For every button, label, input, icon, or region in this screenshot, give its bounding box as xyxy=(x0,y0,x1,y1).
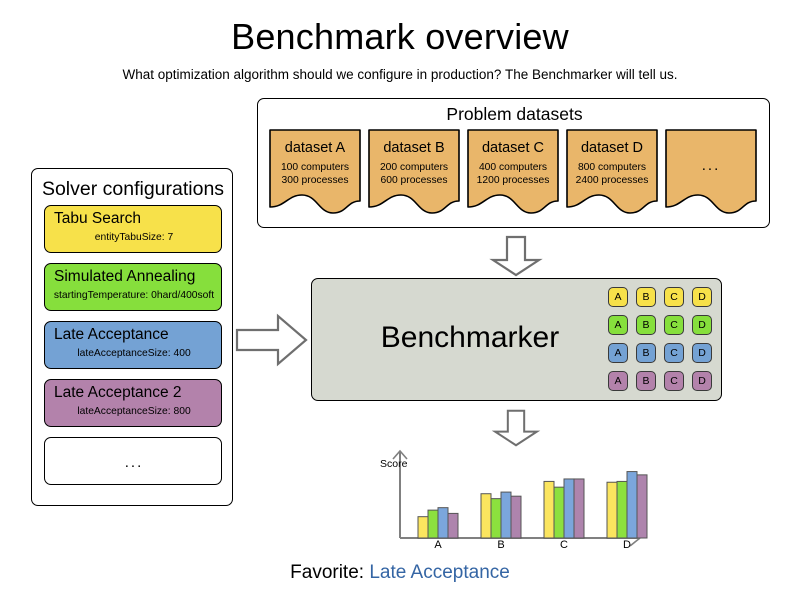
chart-bar xyxy=(564,479,574,538)
favorite-prefix: Favorite: xyxy=(290,562,369,583)
benchmark-matrix-cell[interactable]: B xyxy=(636,371,656,391)
solver-configuration-card[interactable]: Simulated AnnealingstartingTemperature: … xyxy=(44,263,222,311)
chart-y-axis-label: Score xyxy=(380,458,407,471)
chart-x-tick-label: A xyxy=(426,538,450,552)
benchmark-matrix-cell[interactable]: C xyxy=(664,315,684,335)
problem-dataset-card[interactable]: ... xyxy=(665,129,757,214)
arrow-down-icon xyxy=(486,234,546,278)
solver-configuration-param: lateAcceptanceSize: 800 xyxy=(45,405,222,419)
problem-dataset-card[interactable]: dataset B200 computers600 processes xyxy=(368,129,460,214)
dataset-processes: 1200 processes xyxy=(467,174,559,188)
chart-bar xyxy=(637,475,647,538)
dataset-name: dataset A xyxy=(269,139,361,158)
benchmark-matrix-cell[interactable]: B xyxy=(636,343,656,363)
solver-configuration-name: Tabu Search xyxy=(54,209,217,229)
diagram-canvas: Benchmark overview What optimization alg… xyxy=(0,0,800,600)
chart-bar xyxy=(544,481,554,538)
dataset-name: dataset B xyxy=(368,139,460,158)
chart-bar xyxy=(438,508,448,538)
chart-bar xyxy=(607,482,617,538)
solver-configurations-title: Solver configurations xyxy=(32,177,234,201)
dataset-name: dataset D xyxy=(566,139,658,158)
benchmark-matrix-cell[interactable]: B xyxy=(636,287,656,307)
page-subtitle: What optimization algorithm should we co… xyxy=(0,66,800,83)
arrow-down-icon xyxy=(486,408,546,448)
problem-datasets-title: Problem datasets xyxy=(258,103,771,125)
solver-configuration-param: startingTemperature: 0hard/400soft xyxy=(45,289,222,303)
benchmark-matrix: ABCDABCDABCDABCD xyxy=(608,287,714,391)
benchmark-matrix-cell[interactable]: A xyxy=(608,287,628,307)
problem-dataset-card[interactable]: dataset D800 computers2400 processes xyxy=(566,129,658,214)
chart-bar xyxy=(627,472,637,538)
chart-x-tick-label: B xyxy=(489,538,513,552)
chart-x-tick-label: C xyxy=(552,538,576,552)
benchmark-matrix-cell[interactable]: D xyxy=(692,371,712,391)
dataset-name: dataset C xyxy=(467,139,559,158)
chart-bar xyxy=(428,510,438,538)
arrow-right-icon xyxy=(234,312,310,368)
benchmark-matrix-cell[interactable]: D xyxy=(692,343,712,363)
dataset-computers: 800 computers xyxy=(566,161,658,175)
chart-bar xyxy=(418,517,428,538)
benchmark-matrix-cell[interactable]: B xyxy=(636,315,656,335)
benchmark-matrix-cell[interactable]: A xyxy=(608,315,628,335)
problem-dataset-card[interactable]: dataset A100 computers300 processes xyxy=(269,129,361,214)
problem-dataset-card[interactable]: dataset C400 computers1200 processes xyxy=(467,129,559,214)
favorite-value: Late Acceptance xyxy=(369,562,510,583)
solver-configuration-card[interactable]: Tabu SearchentityTabuSize: 7 xyxy=(44,205,222,253)
solver-configuration-card[interactable]: ... xyxy=(44,437,222,485)
chart-bar xyxy=(511,496,521,538)
solver-configuration-card[interactable]: Late AcceptancelateAcceptanceSize: 400 xyxy=(44,321,222,369)
dataset-processes: 300 processes xyxy=(269,174,361,188)
solver-configuration-name: Late Acceptance 2 xyxy=(54,383,217,403)
solver-configuration-card[interactable]: Late Acceptance 2lateAcceptanceSize: 800 xyxy=(44,379,222,427)
dataset-ellipsis: ... xyxy=(665,157,757,174)
solver-configuration-param: lateAcceptanceSize: 400 xyxy=(45,347,222,361)
solver-configuration-param: entityTabuSize: 7 xyxy=(45,231,222,245)
dataset-processes: 600 processes xyxy=(368,174,460,188)
benchmark-matrix-cell[interactable]: D xyxy=(692,287,712,307)
problem-datasets-panel: Problem datasets dataset A100 computers3… xyxy=(257,98,770,228)
benchmarker-label: Benchmarker xyxy=(330,319,610,357)
benchmark-matrix-cell[interactable]: C xyxy=(664,287,684,307)
chart-bar xyxy=(617,481,627,538)
solver-configuration-name: Late Acceptance xyxy=(54,325,217,345)
solver-configuration-ellipsis: ... xyxy=(45,438,222,485)
solver-configurations-panel: Solver configurations Tabu SearchentityT… xyxy=(31,168,233,506)
dataset-computers: 200 computers xyxy=(368,161,460,175)
chart-bar xyxy=(501,492,511,538)
chart-bar xyxy=(448,513,458,538)
favorite-line: Favorite: Late Acceptance xyxy=(0,560,800,585)
benchmark-matrix-cell[interactable]: A xyxy=(608,371,628,391)
solver-configuration-name: Simulated Annealing xyxy=(54,267,217,287)
chart-bar xyxy=(554,487,564,538)
page-title: Benchmark overview xyxy=(0,16,800,58)
chart-bar xyxy=(481,494,491,538)
benchmark-matrix-cell[interactable]: C xyxy=(664,343,684,363)
result-bar-chart xyxy=(378,448,648,548)
dataset-computers: 100 computers xyxy=(269,161,361,175)
benchmark-matrix-cell[interactable]: C xyxy=(664,371,684,391)
chart-x-tick-label: D xyxy=(615,538,639,552)
benchmark-matrix-cell[interactable]: A xyxy=(608,343,628,363)
chart-bar xyxy=(574,479,584,538)
chart-bar xyxy=(491,499,501,538)
dataset-computers: 400 computers xyxy=(467,161,559,175)
dataset-processes: 2400 processes xyxy=(566,174,658,188)
benchmark-matrix-cell[interactable]: D xyxy=(692,315,712,335)
